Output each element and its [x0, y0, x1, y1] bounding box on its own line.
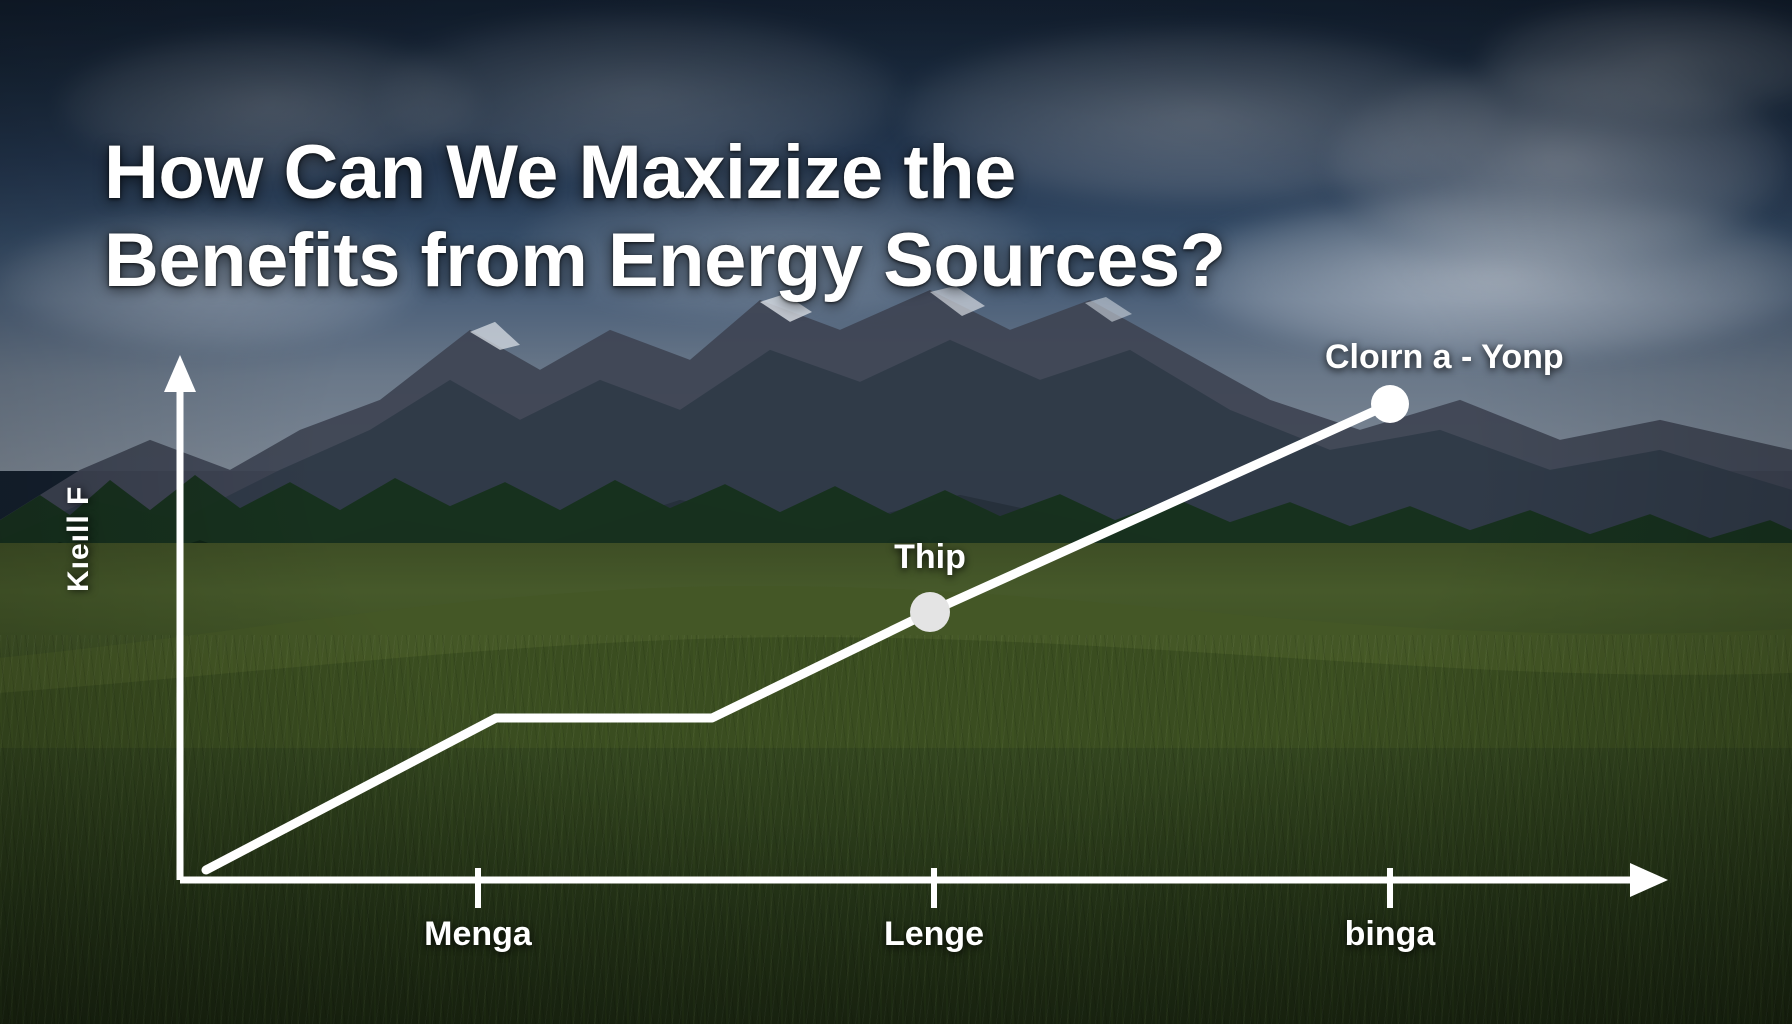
presentation-slide: How Can We Maxizize the Benefits from En… [0, 0, 1792, 1024]
y-axis-label: Kıeıll F [62, 372, 96, 592]
annotation-cloirn-a-yonp: Cloırn a - Yonp [1325, 338, 1564, 377]
chart-svg [0, 0, 1792, 1024]
annotation-thip: Thip [894, 538, 966, 577]
data-point-marker-end[interactable] [1371, 385, 1409, 423]
x-axis-arrowhead [1630, 863, 1668, 897]
y-axis-arrowhead [164, 355, 196, 392]
data-series-line [206, 404, 1390, 870]
line-chart: Kıeıll F Menga Lenge binga Thip Cloırn a… [0, 0, 1792, 1024]
x-axis-tick-label-lenge: Lenge [884, 915, 984, 954]
x-axis-tick-label-binga: binga [1345, 915, 1436, 954]
x-axis-tick-label-menga: Menga [424, 915, 532, 954]
data-point-marker-mid[interactable] [910, 592, 950, 632]
